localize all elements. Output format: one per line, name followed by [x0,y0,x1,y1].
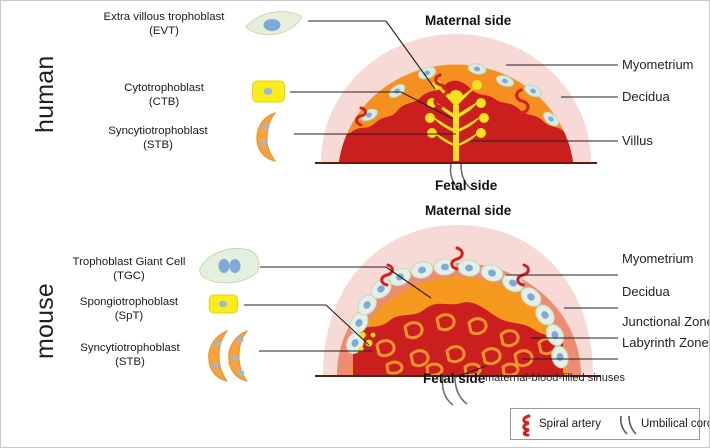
label-myometrium-human: Myometrium [622,57,694,72]
mouse-maternal-side-label: Maternal side [425,203,511,218]
leader-ctb-angle [401,92,453,119]
label-decidua-human: Decidua [622,89,670,104]
label-decidua-mouse: Decidua [622,284,670,299]
figure-root: human mouse Extra villous trophoblast (E… [0,0,710,448]
key-legend-label-spiral-artery: Spiral artery [539,418,601,430]
human-fetal-side-label: Fetal side [435,178,497,193]
human-leader-lines [1,1,710,225]
label-villus-human: Villus [622,133,653,148]
label-maternal-blood-sinuses: maternal-blood-filled sinuses [485,372,625,384]
leader-spt-angle [326,305,369,345]
leader-tgc-angle [386,267,431,298]
mouse-fetal-side-label: Fetal side [423,371,485,386]
label-myometrium-mouse: Myometrium [622,251,694,266]
leader-evt-angle [386,21,435,89]
spiral-artery-icon [519,414,535,436]
label-labyrinth-zone: Labyrinth Zone [622,335,709,350]
umbilical-cord-icon [618,415,638,436]
label-junctional-zone: Junctional Zone [622,314,710,329]
key-legend-label-umbilical-cord: Umbilical cord [641,418,710,430]
key-legend-box: Spiral artery Umbilical cord [510,408,700,440]
human-maternal-side-label: Maternal side [425,13,511,28]
